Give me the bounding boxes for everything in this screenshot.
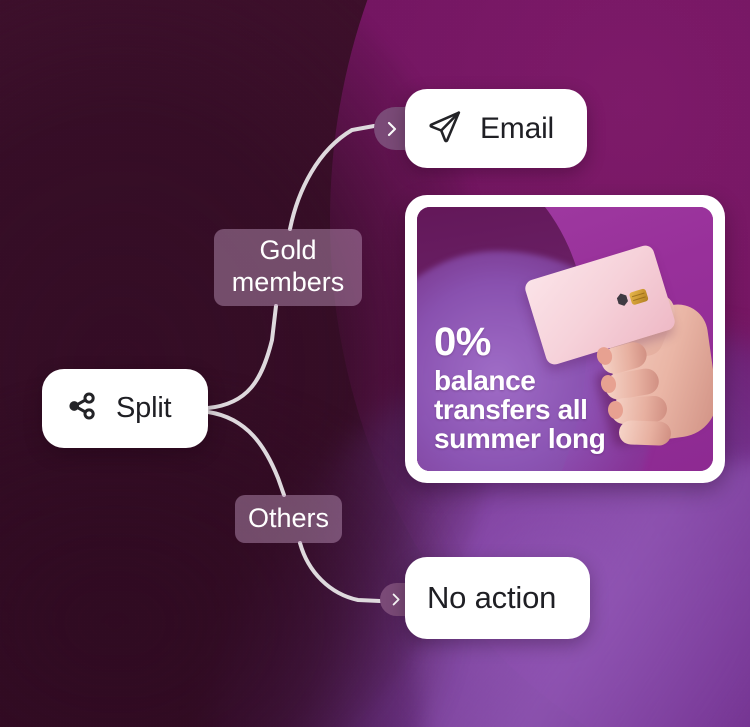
- ad-subline-2: transfers all: [434, 395, 605, 424]
- ad-copy: 0% balance transfers all summer long: [434, 322, 605, 453]
- card-chip-icon: [629, 288, 649, 305]
- node-split-label: Split: [116, 392, 171, 425]
- ad-preview-card[interactable]: 0% balance transfers all summer long: [405, 195, 725, 483]
- node-email-label: Email: [480, 112, 554, 146]
- branch-label-others-text: Others: [248, 503, 329, 534]
- node-email[interactable]: Email: [405, 89, 587, 168]
- branch-label-gold-members[interactable]: Gold members: [214, 229, 362, 306]
- share-nodes-icon: [65, 389, 99, 428]
- branch-label-others[interactable]: Others: [235, 495, 342, 543]
- branch-label-gold-line1: Gold: [259, 235, 316, 265]
- branch-label-gold-line2: members: [232, 267, 345, 297]
- node-split[interactable]: Split: [42, 369, 208, 448]
- ad-headline: 0%: [434, 322, 605, 362]
- card-brand-mark-icon: [616, 292, 629, 307]
- ad-subline-1: balance: [434, 366, 605, 395]
- node-no-action[interactable]: No action: [405, 557, 590, 639]
- paper-plane-icon: [427, 108, 463, 149]
- node-no-action-label: No action: [427, 580, 556, 616]
- flow-canvas: Gold members Others Split: [0, 0, 750, 727]
- ad-subline-3: summer long: [434, 424, 605, 453]
- ad-preview-image: 0% balance transfers all summer long: [417, 207, 713, 471]
- hand-finger-4: [619, 420, 672, 446]
